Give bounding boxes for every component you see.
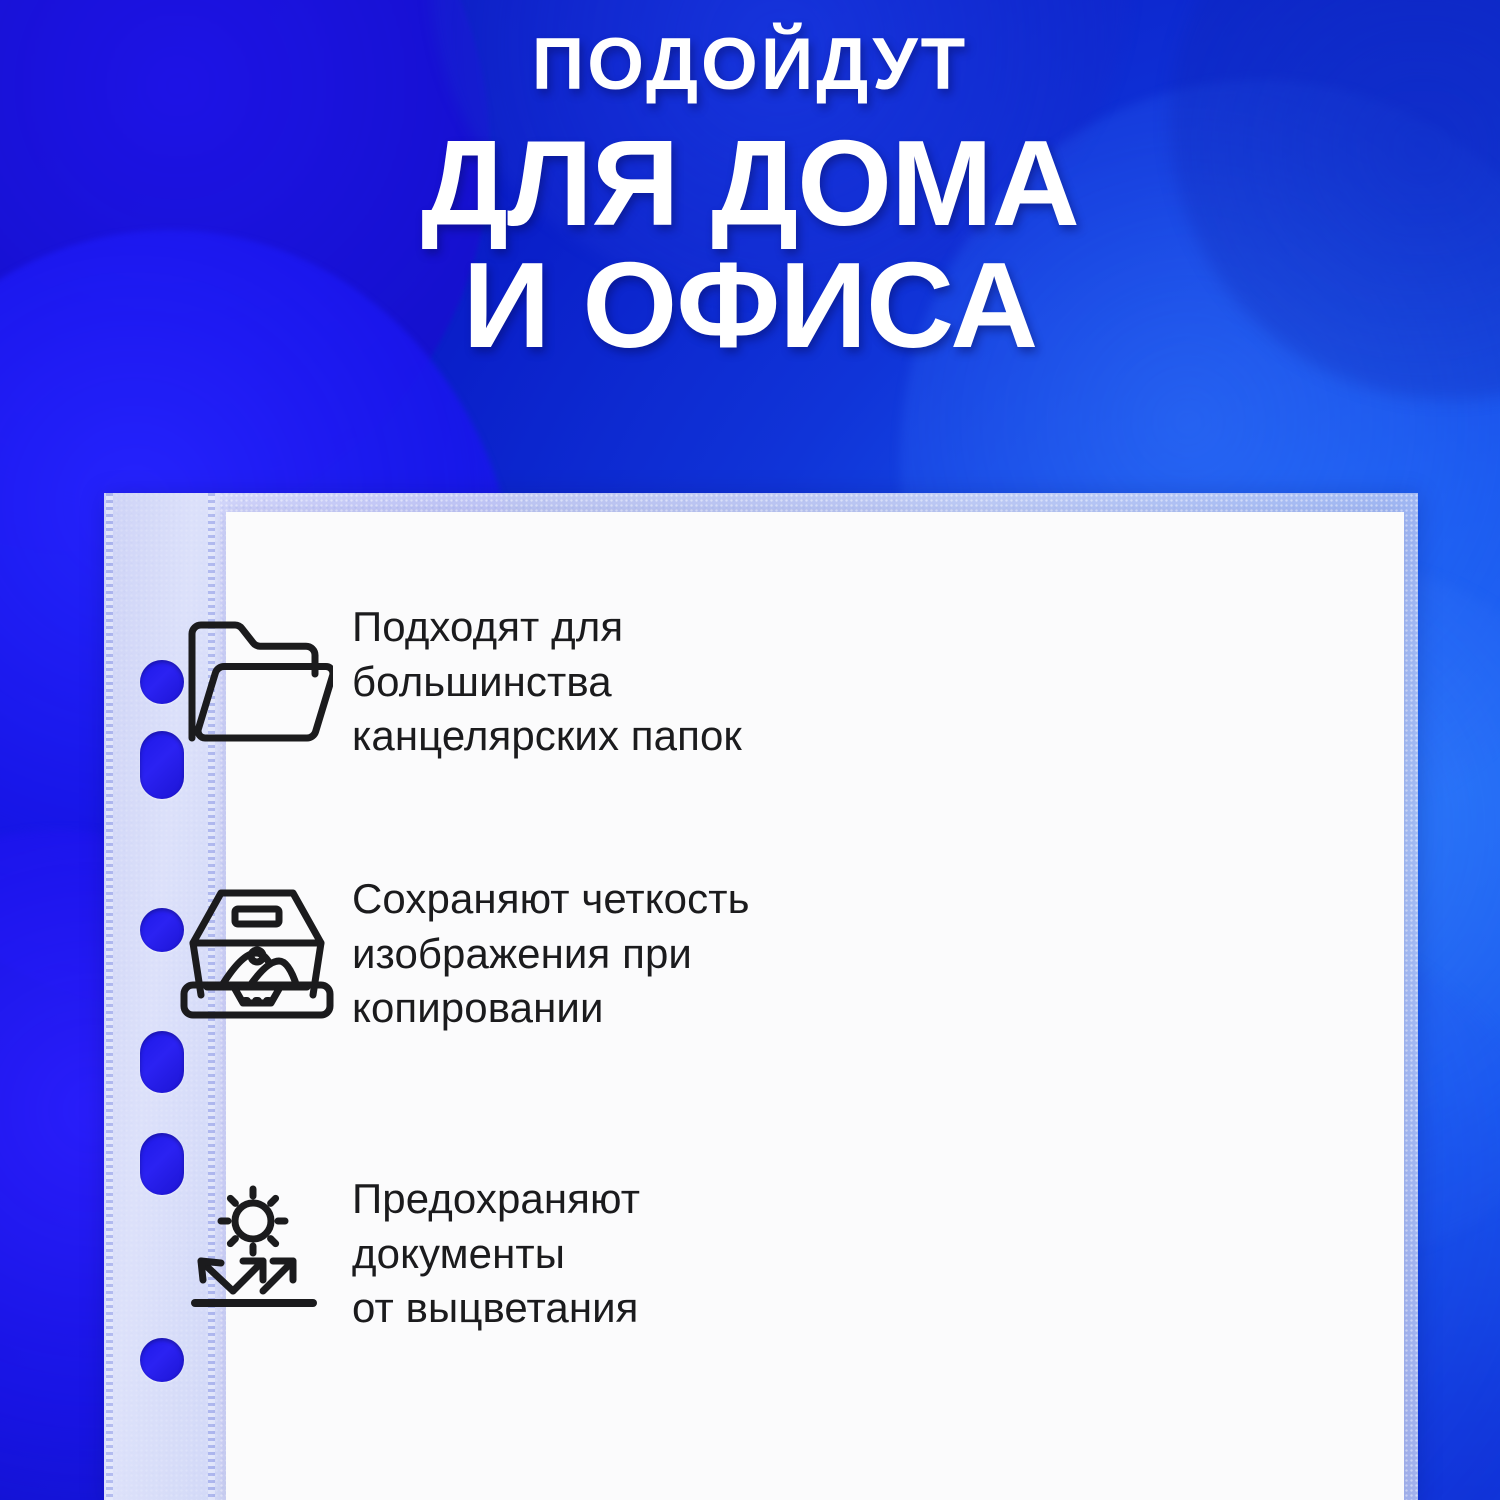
sun-uv-protection-icon [162, 1183, 352, 1325]
open-folder-icon [162, 612, 352, 752]
feature-item: Подходят для большинства канцелярских па… [162, 600, 1122, 764]
flatbed-scanner-icon [162, 883, 352, 1025]
feature-text: Предохраняют документы от выцветания [352, 1172, 640, 1336]
promo-banner: ПОДОЙДУТ ДЛЯ ДОМА И ОФИСА П [0, 0, 1500, 1500]
feature-text: Сохраняют четкость изображения при копир… [352, 872, 750, 1036]
feature-item: Сохраняют четкость изображения при копир… [162, 872, 1122, 1036]
feature-text: Подходят для большинства канцелярских па… [352, 600, 742, 764]
feature-item: Предохраняют документы от выцветания [162, 1172, 1122, 1336]
feature-list: Подходят для большинства канцелярских па… [0, 0, 1500, 1500]
